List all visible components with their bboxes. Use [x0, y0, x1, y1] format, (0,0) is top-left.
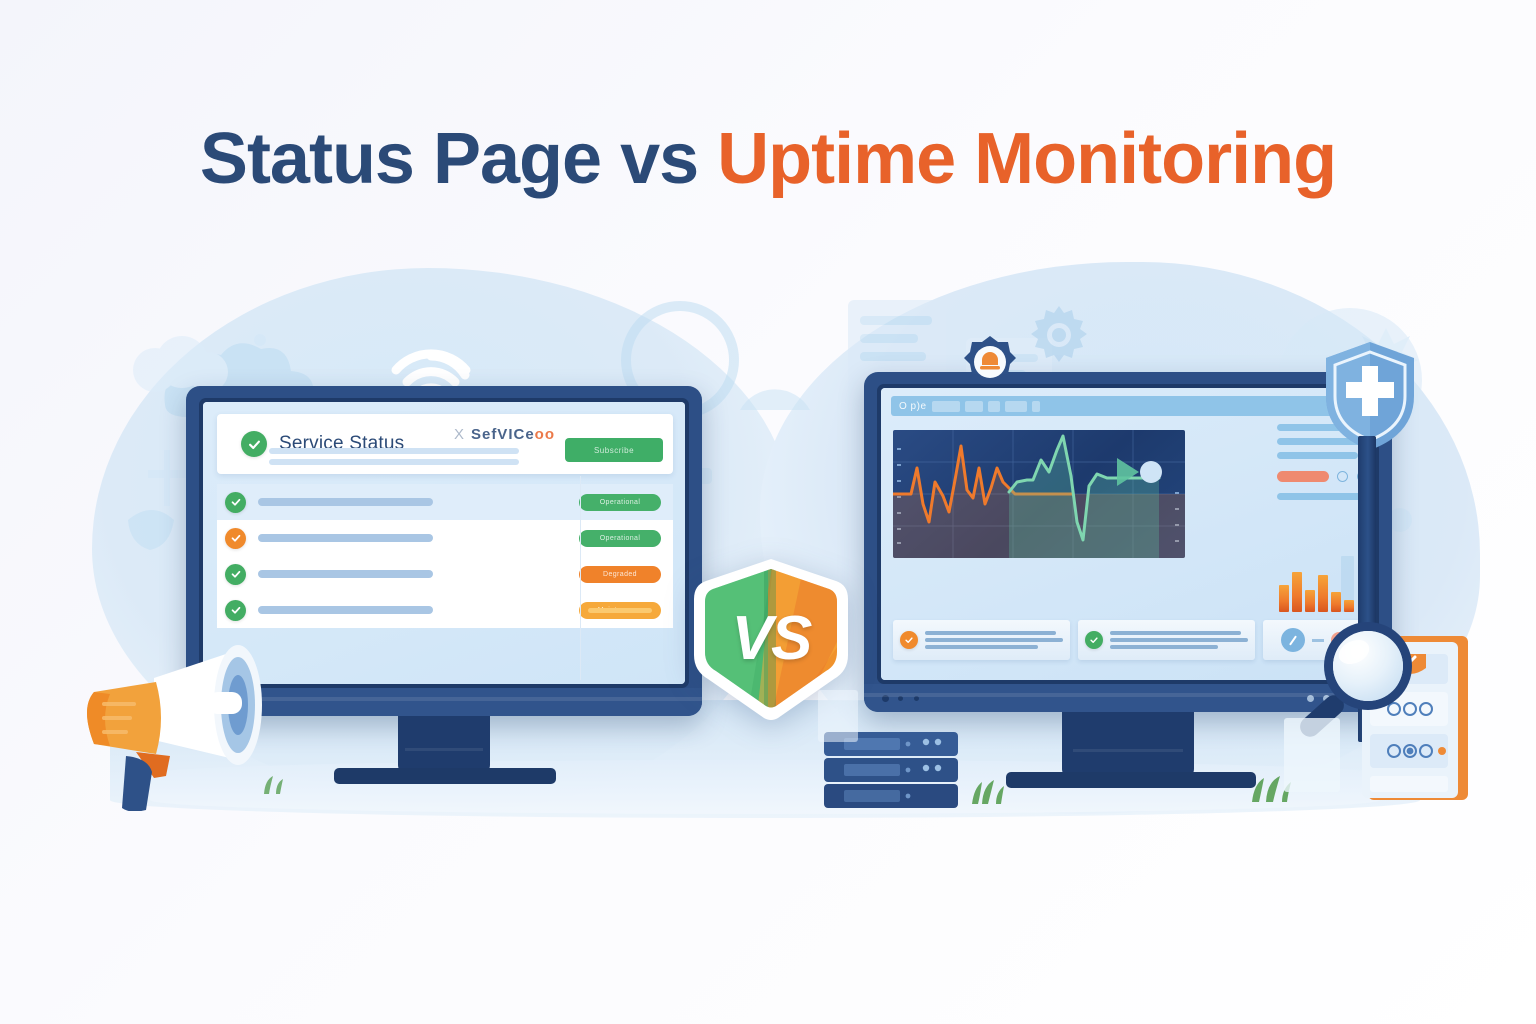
- megaphone-icon: [62, 636, 312, 811]
- monitor-stand-neck-right: [1062, 712, 1194, 778]
- indicator-dot-icon: [1337, 471, 1348, 482]
- status-page-header-card: Service Status XSefVICeoo Subscribe: [217, 414, 673, 474]
- brand-suffix: oo: [535, 426, 555, 443]
- row-label-placeholder: [258, 534, 433, 542]
- list-item[interactable]: [1078, 620, 1255, 660]
- paper-decor: [818, 690, 858, 742]
- address-bar-url: O p)e: [899, 401, 927, 412]
- list-item[interactable]: [893, 620, 1070, 660]
- browser-address-bar[interactable]: O p)e: [891, 396, 1365, 416]
- check-circle-icon: [225, 564, 246, 585]
- status-page-header-lines: [269, 448, 519, 470]
- alert-bell-icon: [962, 334, 1018, 390]
- row-label-placeholder: [258, 498, 433, 506]
- table-row[interactable]: 2 Degraded: [217, 556, 673, 593]
- sidebar-status-row: [1277, 468, 1365, 486]
- check-circle-icon: [900, 631, 918, 649]
- check-circle-icon: [241, 431, 267, 457]
- mini-bar-chart: [1277, 550, 1365, 612]
- row-label-placeholder: [258, 606, 433, 614]
- column-divider: [580, 476, 581, 680]
- brand-x-mark: X: [454, 426, 465, 443]
- page-title-accent: Uptime Monitoring: [717, 119, 1336, 199]
- grass-decor: [966, 776, 1036, 804]
- brand-name: SefVICe: [471, 426, 535, 443]
- check-circle-icon: [225, 492, 246, 513]
- paper-decor: [1284, 718, 1340, 792]
- table-row[interactable]: 2 Operational: [217, 520, 673, 557]
- table-row[interactable]: 3 Maintenance: [217, 592, 673, 628]
- check-circle-icon: [225, 528, 246, 549]
- gear-icon: [1030, 306, 1088, 364]
- chart-canvas: [893, 430, 1185, 558]
- response-time-chart[interactable]: [893, 430, 1185, 558]
- page-title-primary: Status Page vs: [200, 119, 717, 199]
- status-pill: [1277, 471, 1329, 482]
- status-badge: Maintenance: [579, 602, 661, 619]
- check-circle-icon: [225, 600, 246, 621]
- check-circle-icon: [1085, 631, 1103, 649]
- status-badge: Degraded: [579, 566, 661, 583]
- subscribe-button[interactable]: Subscribe: [565, 438, 663, 462]
- row-label-placeholder: [258, 570, 433, 578]
- monitor-stand-base-right: [1006, 772, 1256, 788]
- card-text-placeholder: [925, 628, 1063, 652]
- table-row[interactable]: 2 Operational: [217, 484, 673, 521]
- monitor-stand-neck-left: [398, 716, 490, 774]
- status-badge: Operational: [579, 530, 661, 547]
- status-page-brand: XSefVICeoo: [454, 426, 555, 443]
- monitor-stand-base-left: [334, 768, 556, 784]
- illustration-canvas: Status Page vs Uptime Monitoring: [0, 0, 1536, 1024]
- dashboard-sidebar: [1277, 424, 1365, 612]
- status-badge: Operational: [579, 494, 661, 511]
- page-title: Status Page vs Uptime Monitoring: [0, 118, 1536, 200]
- card-text-placeholder: [1110, 628, 1248, 652]
